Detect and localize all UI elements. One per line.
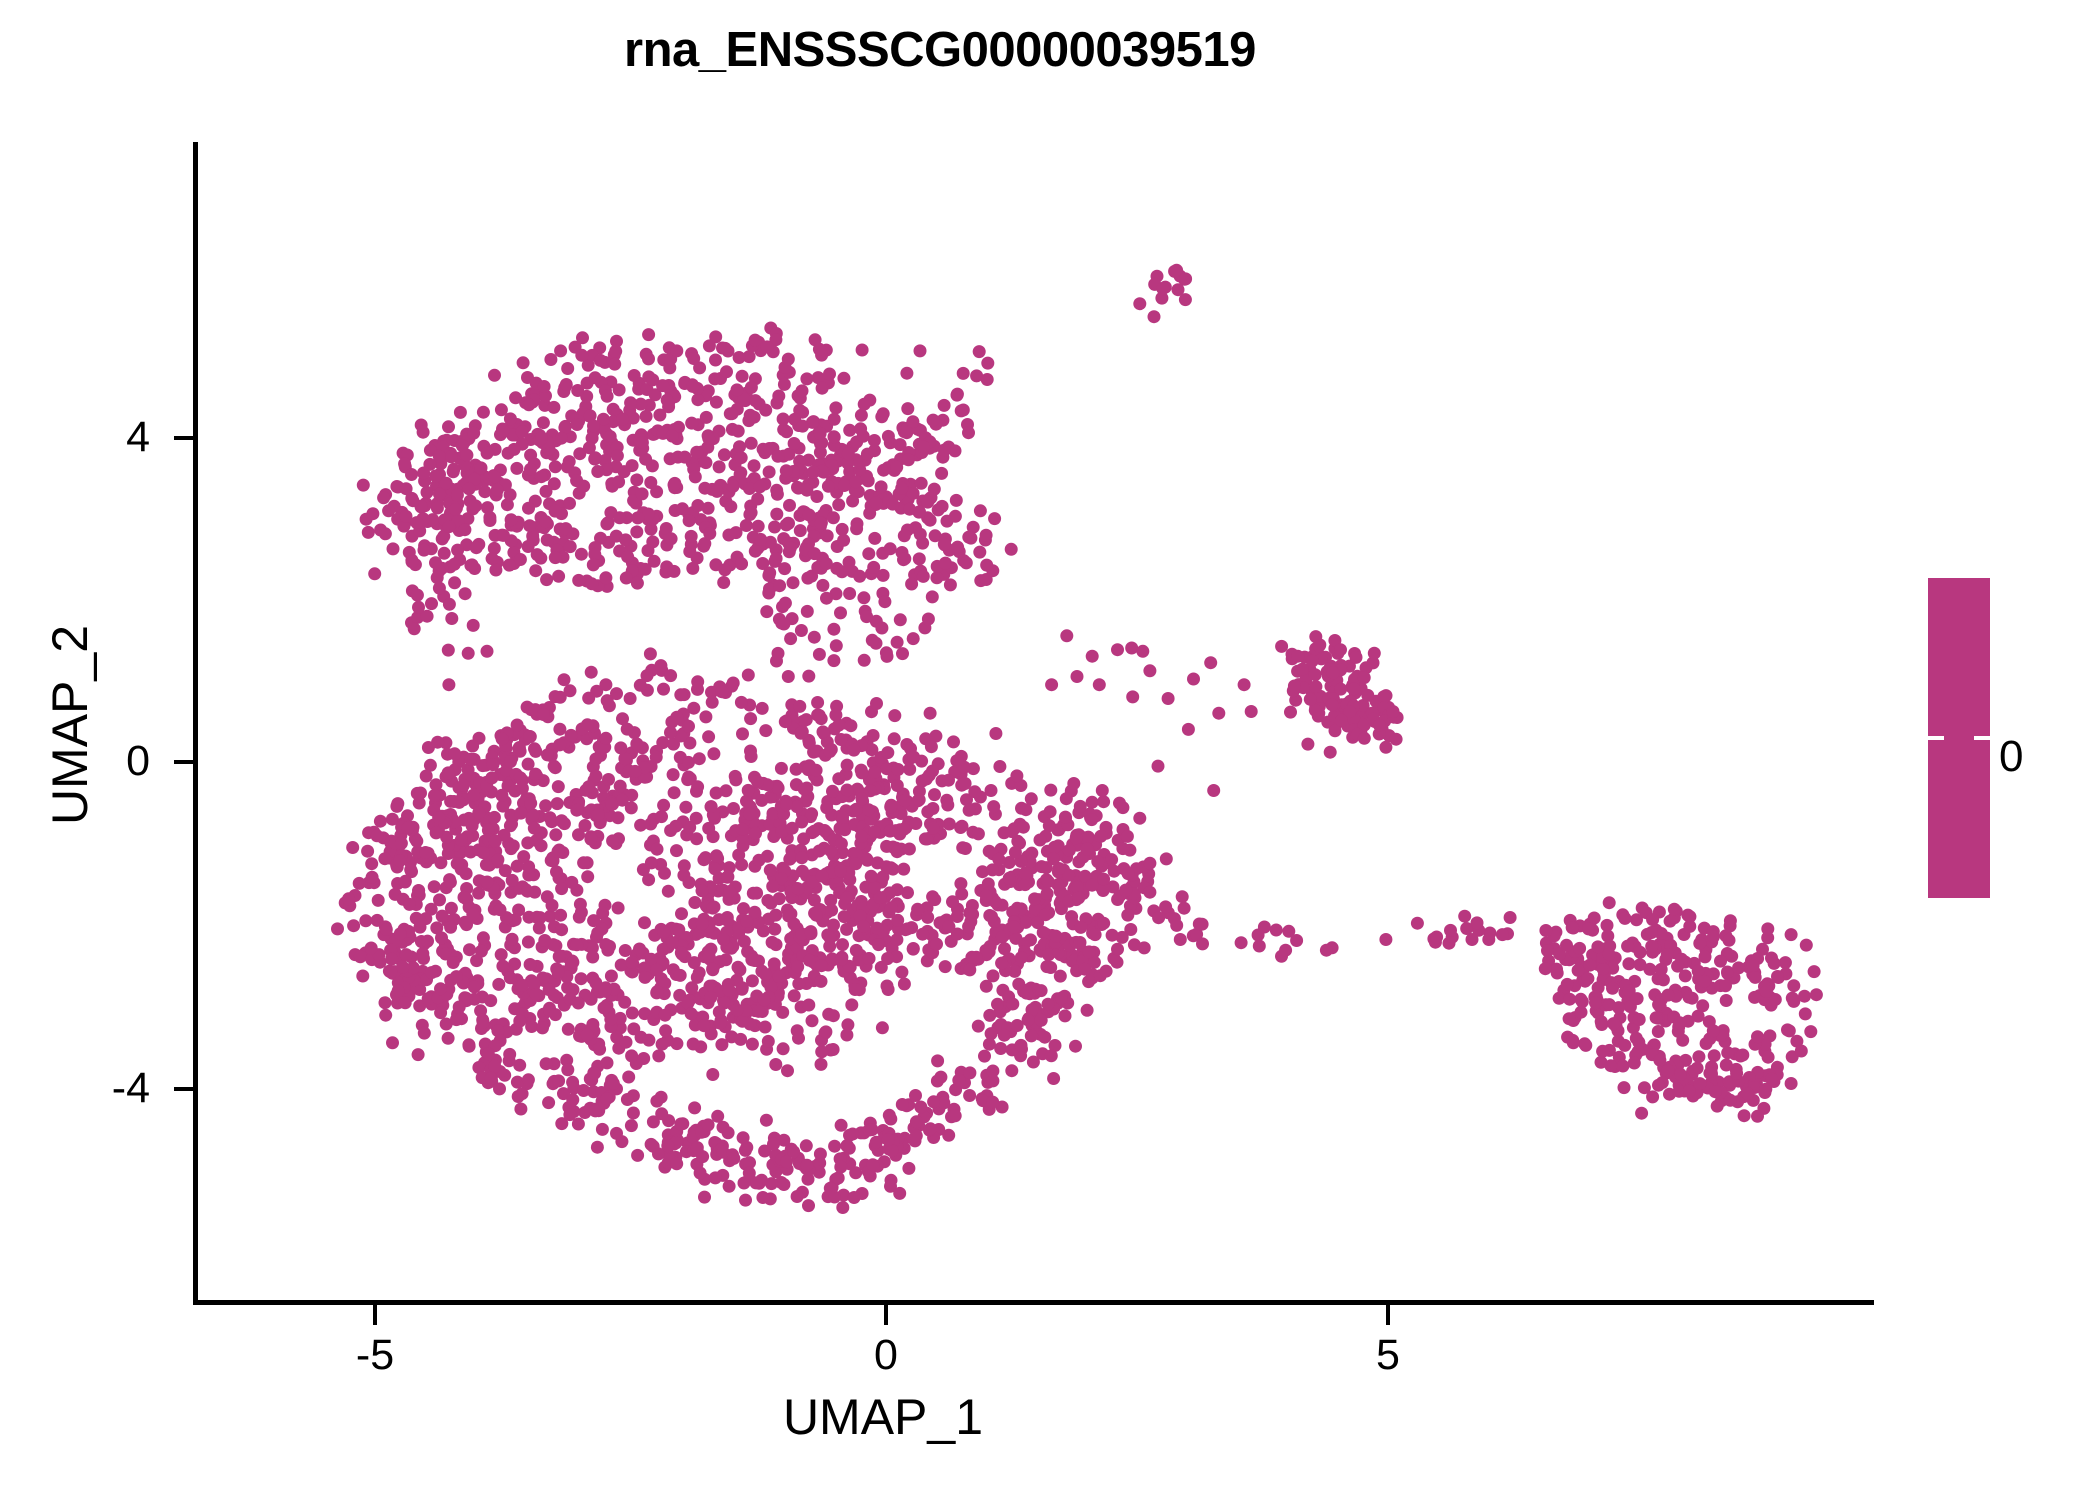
y-axis-line: [193, 142, 198, 1305]
x-tick-label-0: 0: [826, 1334, 946, 1377]
legend-value-label: 0: [1999, 735, 2023, 779]
x-axis-label: UMAP_1: [633, 1392, 1133, 1442]
y-tick-label-4: 4: [90, 416, 150, 459]
x-tick-label-neg5: -5: [315, 1334, 435, 1377]
x-tick-label-5: 5: [1328, 1334, 1448, 1377]
x-tick-mark-5: [1386, 1305, 1390, 1325]
page-title: rna_ENSSSCG00000039519: [0, 22, 1880, 78]
y-tick-mark-0: [174, 760, 194, 764]
y-tick-label-0: 0: [90, 740, 150, 783]
y-axis-label: UMAP_2: [45, 475, 95, 975]
x-axis-line: [193, 1300, 1874, 1305]
y-tick-mark-neg4: [174, 1087, 194, 1091]
legend-colorbar[interactable]: [1928, 578, 1990, 898]
y-tick-label-neg4: -4: [90, 1067, 150, 1110]
y-tick-mark-4: [174, 436, 194, 440]
x-tick-mark-neg5: [373, 1305, 377, 1325]
figure-canvas: rna_ENSSSCG00000039519 4 0 -4 -5 0 5 UMA…: [0, 0, 2100, 1500]
scatter-points: [0, 0, 2100, 1500]
x-tick-mark-0: [884, 1305, 888, 1325]
legend-tick-left: [1928, 736, 1944, 740]
legend-tick-right: [1974, 736, 1990, 740]
